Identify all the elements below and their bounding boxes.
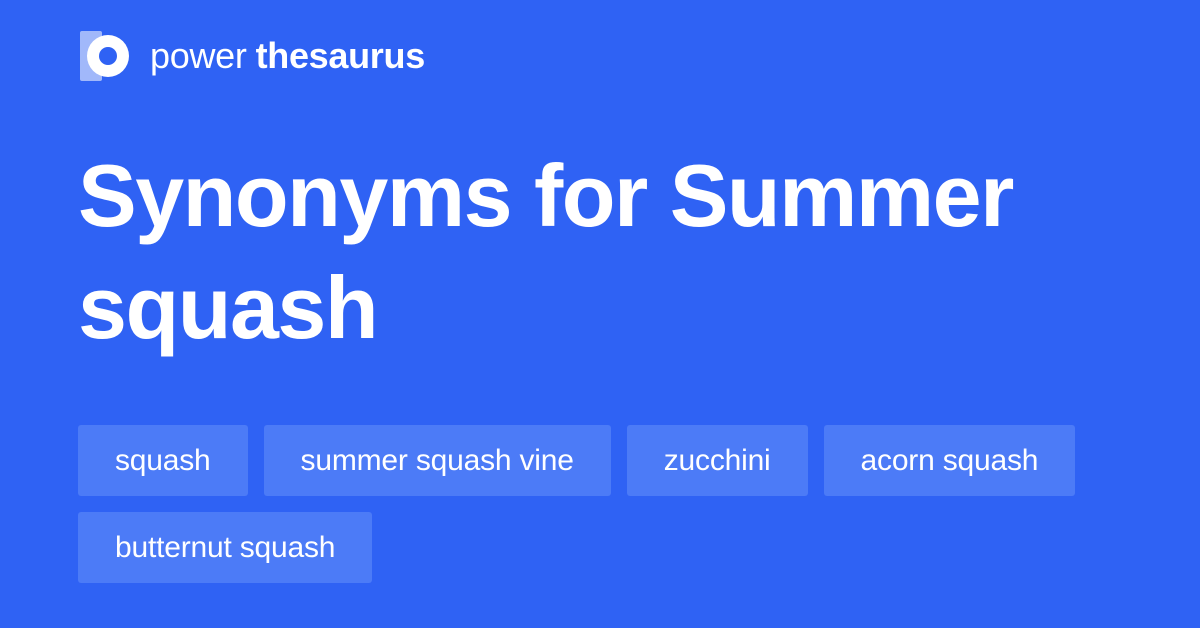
- synonym-tag[interactable]: butternut squash: [78, 512, 372, 583]
- brand-logo[interactable]: power thesaurus: [78, 30, 425, 82]
- synonym-tag[interactable]: squash: [78, 425, 248, 496]
- synonym-tag[interactable]: acorn squash: [824, 425, 1076, 496]
- power-thesaurus-logo-icon: [78, 30, 130, 82]
- page-title: Synonyms for Summer squash: [78, 140, 1078, 364]
- synonym-tag[interactable]: zucchini: [627, 425, 808, 496]
- brand-word-thesaurus: thesaurus: [256, 38, 425, 74]
- brand-wordmark: power thesaurus: [150, 38, 425, 74]
- synonym-tag-list: squash summer squash vine zucchini acorn…: [78, 425, 1128, 583]
- synonym-tag[interactable]: summer squash vine: [264, 425, 611, 496]
- share-card: power thesaurus Synonyms for Summer squa…: [0, 0, 1200, 628]
- brand-word-power: power: [150, 38, 247, 74]
